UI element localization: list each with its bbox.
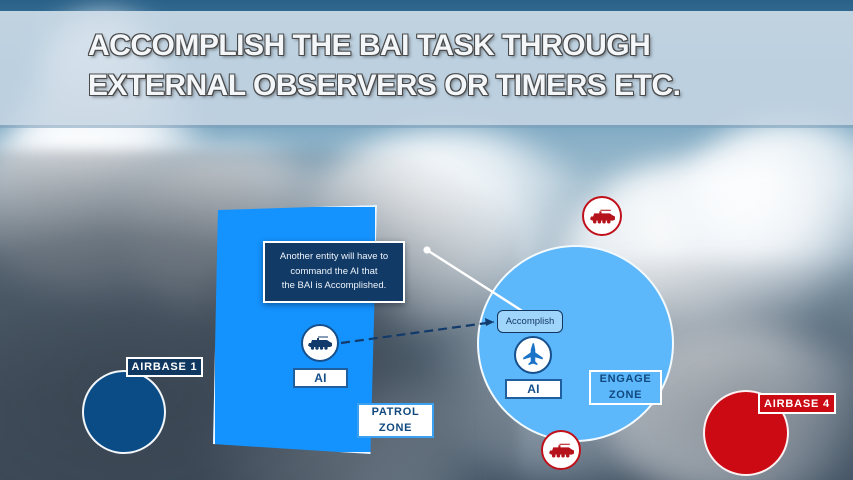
callout-note: Another entity will have to command the … [263, 241, 405, 303]
armored-vehicle-icon [548, 442, 575, 459]
air-ai-unit-label: AI [505, 379, 562, 399]
fighter-jet-icon [520, 342, 546, 368]
hostile-unit-marker-north[interactable] [582, 196, 622, 236]
hostile-unit-marker-south[interactable] [541, 430, 581, 470]
ground-ai-unit-marker[interactable] [301, 324, 339, 362]
enemy-airbase-label: AIRBASE 4 [758, 393, 836, 414]
air-ai-unit-marker[interactable] [514, 336, 552, 374]
friendly-airbase-label: AIRBASE 1 [126, 357, 203, 377]
ground-ai-unit-label: AI [293, 368, 348, 388]
friendly-airbase-marker[interactable] [82, 370, 166, 454]
armored-vehicle-icon [589, 208, 616, 225]
engage-zone-area[interactable] [477, 245, 674, 442]
page-title: ACCOMPLISH THE BAI TASK THROUGH EXTERNAL… [88, 26, 788, 105]
accomplish-command-button[interactable]: Accomplish [497, 310, 563, 333]
engage-zone-label: ENGAGE ZONE [589, 370, 662, 405]
title-banner-rule [0, 125, 853, 128]
patrol-zone-label: PATROL ZONE [357, 403, 434, 438]
slide-canvas: ACCOMPLISH THE BAI TASK THROUGH EXTERNAL… [0, 0, 853, 480]
armored-vehicle-icon [307, 335, 333, 351]
